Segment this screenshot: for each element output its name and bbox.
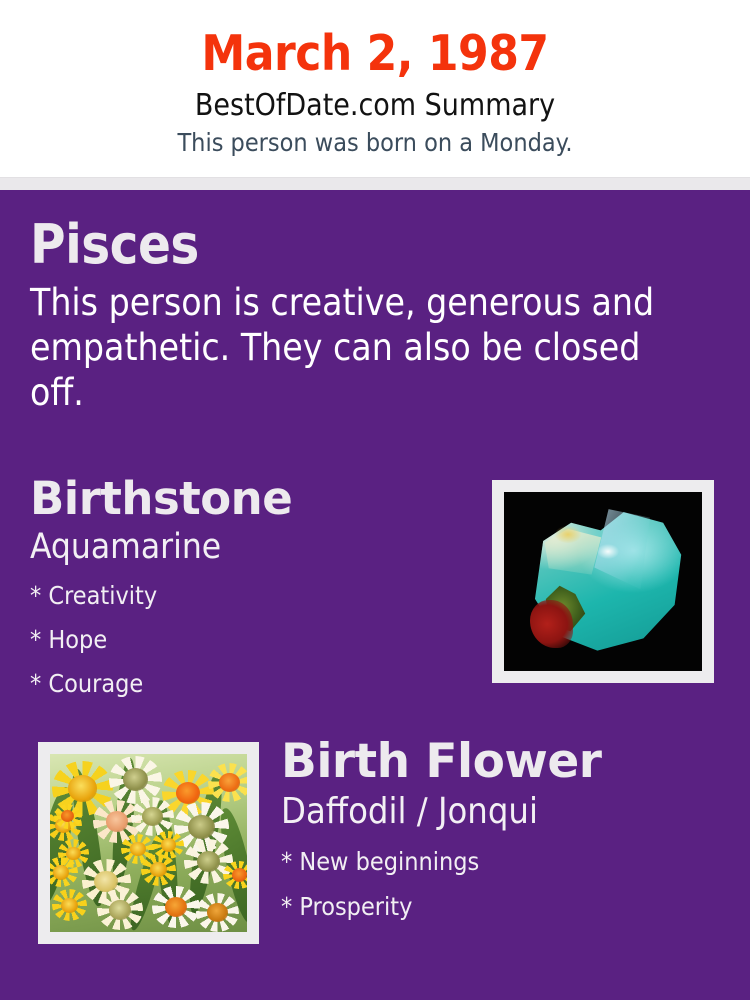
zodiac-section: Pisces This person is creative, generous… — [30, 214, 720, 415]
birth-flower-section: Birth Flower Daffodil / Jonqui * New beg… — [281, 735, 731, 929]
birth-flower-image — [38, 742, 259, 944]
list-item: * Courage — [30, 662, 470, 706]
birth-flower-image-canvas — [50, 754, 247, 932]
birth-flower-heading: Birth Flower — [281, 735, 731, 789]
birthstone-heading: Birthstone — [30, 473, 470, 525]
birthstone-section: Birthstone Aquamarine * Creativity * Hop… — [30, 473, 470, 706]
birthstone-image-canvas — [504, 492, 702, 671]
birth-flower-trait-list: * New beginnings * Prosperity — [281, 833, 731, 929]
birth-flower-name: Daffodil / Jonqui — [281, 789, 731, 833]
list-item: * Hope — [30, 618, 470, 662]
birthstone-name: Aquamarine — [30, 525, 470, 568]
list-item: * Prosperity — [281, 884, 731, 929]
day-of-week-text: This person was born on a Monday. — [0, 124, 750, 158]
site-summary-label: BestOfDate.com Summary — [0, 83, 750, 124]
birthstone-trait-list: * Creativity * Hope * Courage — [30, 568, 470, 706]
daffodil-field-icon — [50, 754, 247, 932]
divider — [0, 177, 750, 190]
zodiac-description: This person is creative, generous and em… — [30, 276, 702, 415]
zodiac-sign-name: Pisces — [30, 214, 720, 276]
page-title-date: March 2, 1987 — [0, 0, 750, 83]
summary-card: March 2, 1987 BestOfDate.com Summary Thi… — [0, 0, 750, 1000]
list-item: * Creativity — [30, 574, 470, 618]
birthstone-image — [492, 480, 714, 683]
header: March 2, 1987 BestOfDate.com Summary Thi… — [0, 0, 750, 177]
aquamarine-crystal-icon — [522, 505, 686, 657]
list-item: * New beginnings — [281, 839, 731, 884]
